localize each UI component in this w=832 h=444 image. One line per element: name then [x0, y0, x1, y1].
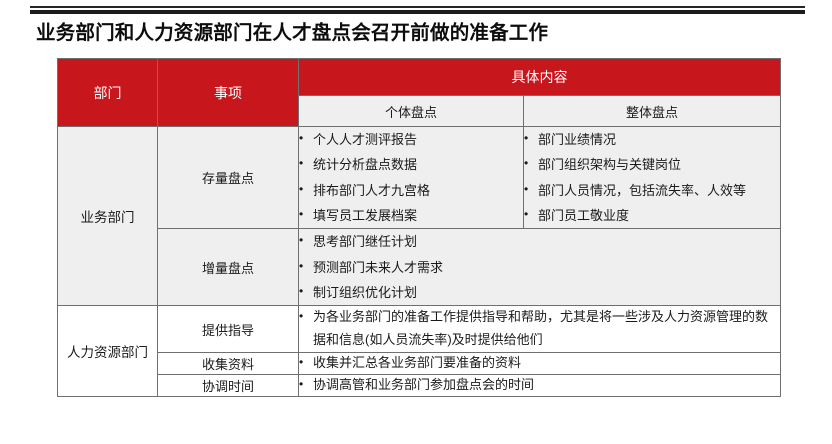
item-cell-coordinate-time: 协调时间 — [158, 374, 299, 396]
content-cell-increment: 思考部门继任计划 预测部门未来人才需求 制订组织优化计划 — [299, 229, 781, 306]
content-cell-collect-materials: 收集并汇总各业务部门要准备的资料 — [299, 352, 781, 374]
content-cell-stock-overall: 部门业绩情况 部门组织架构与关键岗位 部门人员情况，包括流失率、人效等 部门员工… — [524, 127, 781, 229]
table-row: 业务部门 存量盘点 个人人才测评报告 统计分析盘点数据 排布部门人才九宫格 填写… — [58, 127, 781, 229]
list-item: 协调高管和业务部门参加盘点会的时间 — [299, 375, 780, 396]
bullet-list: 协调高管和业务部门参加盘点会的时间 — [299, 375, 780, 396]
list-item: 收集并汇总各业务部门要准备的资料 — [299, 353, 780, 374]
item-cell-stock-inventory: 存量盘点 — [158, 127, 299, 229]
table-row: 收集资料 收集并汇总各业务部门要准备的资料 — [58, 352, 781, 374]
list-item: 思考部门继任计划 — [299, 229, 780, 254]
subheader-individual: 个体盘点 — [299, 96, 524, 127]
bullet-list: 为各业务部门的准备工作提供指导和帮助，尤其是将一些涉及人力资源管理的数据和信息(… — [299, 306, 780, 352]
content-cell-provide-guidance: 为各业务部门的准备工作提供指导和帮助，尤其是将一些涉及人力资源管理的数据和信息(… — [299, 306, 781, 353]
subheader-overall: 整体盘点 — [524, 96, 781, 127]
header-dept: 部门 — [58, 59, 158, 127]
bullet-list: 部门业绩情况 部门组织架构与关键岗位 部门人员情况，包括流失率、人效等 部门员工… — [524, 127, 780, 228]
bullet-list: 个人人才测评报告 统计分析盘点数据 排布部门人才九宫格 填写员工发展档案 — [299, 127, 523, 228]
list-item: 排布部门人才九宫格 — [299, 178, 523, 203]
dept-cell-business: 业务部门 — [58, 127, 158, 306]
content-cell-coordinate-time: 协调高管和业务部门参加盘点会的时间 — [299, 374, 781, 396]
list-item: 统计分析盘点数据 — [299, 152, 523, 177]
preparation-table-wrapper: 部门 事项 具体内容 个体盘点 整体盘点 业务部门 存量盘点 个人人才测评报告 … — [57, 58, 780, 397]
list-item: 部门业绩情况 — [524, 127, 780, 152]
preparation-table: 部门 事项 具体内容 个体盘点 整体盘点 业务部门 存量盘点 个人人才测评报告 … — [57, 58, 781, 397]
top-decorative-rule — [30, 6, 805, 14]
table-row: 协调时间 协调高管和业务部门参加盘点会的时间 — [58, 374, 781, 396]
item-cell-increment-inventory: 增量盘点 — [158, 229, 299, 306]
table-row: 人力资源部门 提供指导 为各业务部门的准备工作提供指导和帮助，尤其是将一些涉及人… — [58, 306, 781, 353]
list-item: 部门人员情况，包括流失率、人效等 — [524, 178, 780, 203]
header-detail: 具体内容 — [299, 59, 781, 96]
list-item: 部门组织架构与关键岗位 — [524, 152, 780, 177]
list-item: 预测部门未来人才需求 — [299, 255, 780, 280]
table-row: 增量盘点 思考部门继任计划 预测部门未来人才需求 制订组织优化计划 — [58, 229, 781, 306]
bullet-list: 收集并汇总各业务部门要准备的资料 — [299, 353, 780, 374]
list-item: 部门员工敬业度 — [524, 203, 780, 228]
list-item: 填写员工发展档案 — [299, 203, 523, 228]
table-header-row: 部门 事项 具体内容 — [58, 59, 781, 96]
content-cell-stock-individual: 个人人才测评报告 统计分析盘点数据 排布部门人才九宫格 填写员工发展档案 — [299, 127, 524, 229]
list-item: 个人人才测评报告 — [299, 127, 523, 152]
dept-cell-hr: 人力资源部门 — [58, 306, 158, 396]
rule-line-thick — [30, 10, 805, 14]
bullet-list: 思考部门继任计划 预测部门未来人才需求 制订组织优化计划 — [299, 229, 780, 305]
list-item: 制订组织优化计划 — [299, 280, 780, 305]
page-title: 业务部门和人力资源部门在人才盘点会召开前做的准备工作 — [36, 16, 548, 45]
item-cell-provide-guidance: 提供指导 — [158, 306, 299, 353]
header-item: 事项 — [158, 59, 299, 127]
item-cell-collect-materials: 收集资料 — [158, 352, 299, 374]
list-item: 为各业务部门的准备工作提供指导和帮助，尤其是将一些涉及人力资源管理的数据和信息(… — [299, 306, 780, 352]
